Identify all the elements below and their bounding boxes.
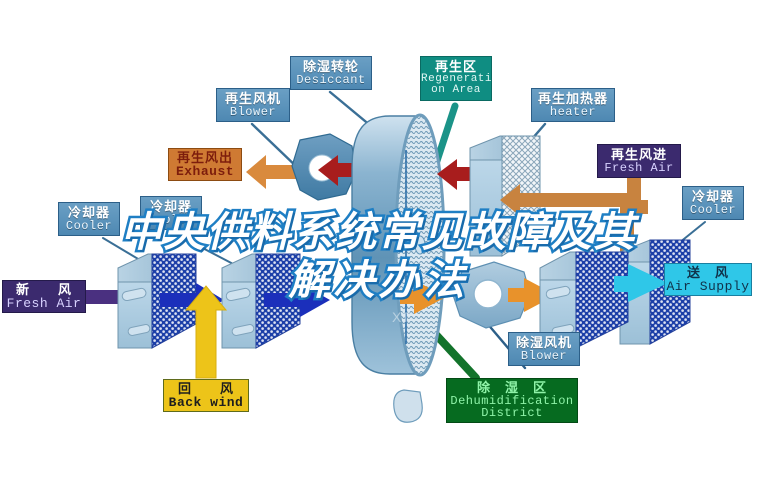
label-cooler-right-cn: 冷却器 [683,190,743,204]
label-air-supply[interactable]: 送 风 Air Supply [664,263,752,296]
label-blower-dehum-cn: 除湿风机 [509,336,579,350]
label-cooler-right-en: Cooler [683,204,743,217]
regen-exhaust-arrow [246,155,300,189]
label-fresh-air-process[interactable]: 新 风 Fresh Air [2,280,86,313]
label-air-supply-cn: 送 风 [665,266,751,280]
label-exhaust-en: Exhaust [169,165,241,179]
label-regen-heater[interactable]: 再生加热器 heater [531,88,615,122]
label-regen-heater-cn: 再生加热器 [532,92,614,106]
label-cooler-right[interactable]: 冷却器 Cooler [682,186,744,220]
label-desiccant-wheel-en: Desiccant [291,74,371,87]
label-blower-dehum-en: Blower [509,350,579,363]
label-fresh-air-process-cn: 新 风 [3,283,85,297]
label-fresh-air-process-en: Fresh Air [3,297,85,311]
label-exhaust[interactable]: 再生风出 Exhaust [168,148,242,181]
label-regeneration-area-en2: on Area [421,85,491,97]
label-cooler-left-2[interactable]: 冷却器 Cooler [140,196,202,230]
label-cooler-left-1-cn: 冷却器 [59,206,119,220]
label-blower-regen-cn: 再生风机 [217,92,289,106]
label-regeneration-area[interactable]: 再生区 Regenerati on Area [420,56,492,101]
label-back-wind-cn: 回 风 [164,382,248,396]
schematic-illustration: XT [0,0,757,488]
label-dehum-district-en2: District [447,407,577,420]
label-back-wind[interactable]: 回 风 Back wind [163,379,249,412]
desiccant-rotor: XT [352,112,444,422]
label-fresh-air-regen-en: Fresh Air [598,162,680,175]
label-dehum-district-cn: 除 湿 区 [447,381,577,395]
label-blower-regen-en: Blower [217,106,289,119]
label-desiccant-wheel[interactable]: 除湿转轮 Desiccant [290,56,372,90]
diagram-canvas: XT [0,0,757,488]
label-air-supply-en: Air Supply [665,280,751,294]
label-fresh-air-regen[interactable]: 再生风进 Fresh Air [597,144,681,178]
label-cooler-left-2-cn: 冷却器 [141,200,201,214]
label-regeneration-area-cn: 再生区 [421,60,491,74]
label-cooler-left-2-en: Cooler [141,214,201,227]
rotor-watermark: XT [392,309,410,325]
label-blower-dehum[interactable]: 除湿风机 Blower [508,332,580,366]
label-cooler-left-1-en: Cooler [59,220,119,233]
label-exhaust-cn: 再生风出 [169,151,241,165]
condensate-tray [394,390,423,422]
label-back-wind-en: Back wind [164,396,248,410]
label-blower-regen[interactable]: 再生风机 Blower [216,88,290,122]
label-cooler-left-1[interactable]: 冷却器 Cooler [58,202,120,236]
label-fresh-air-regen-cn: 再生风进 [598,148,680,162]
label-dehum-district[interactable]: 除 湿 区 Dehumidification District [446,378,578,423]
label-desiccant-wheel-cn: 除湿转轮 [291,60,371,74]
label-regen-heater-en: heater [532,106,614,119]
